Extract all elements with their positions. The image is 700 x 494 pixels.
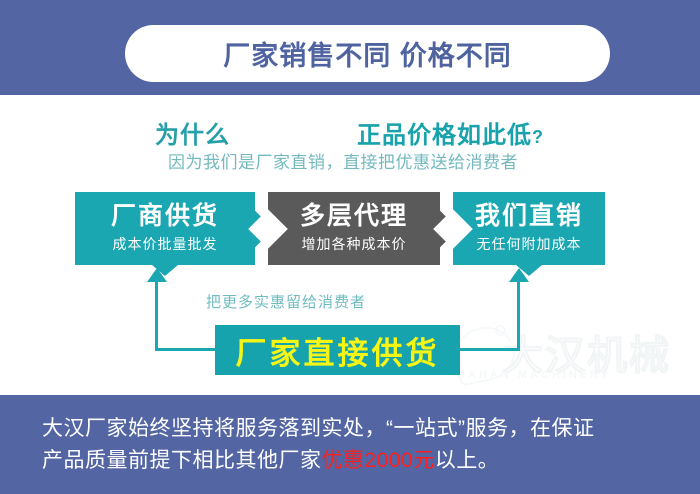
flow-step-3-subtitle: 无任何附加成本	[477, 234, 582, 254]
right-arrow-horizontal	[458, 348, 520, 351]
left-arrow-head-icon	[147, 268, 167, 282]
why-question-text: 正品价格如此低	[357, 122, 532, 149]
left-arrow-vertical	[155, 281, 158, 351]
why-row: 为什么 正品价格如此低?	[0, 115, 700, 149]
footer-line2-pre: 产品质量前提下相比其他厂家	[42, 449, 322, 472]
watermark-en-text: DAHAN MACHINERY	[457, 369, 611, 381]
watermark-cn-text: 大汉机械	[503, 323, 671, 381]
footer-text: 大汉厂家始终坚持将服务落到实处，“一站式”服务，在保证 产品质量前提下相比其他厂…	[42, 413, 666, 476]
why-question-mark: ?	[532, 127, 544, 147]
flow-step-2-subtitle: 增加各种成本价	[302, 234, 407, 254]
why-label: 为什么	[155, 115, 230, 150]
footer-discount-highlight: 优惠2000元	[322, 449, 435, 472]
page-title: 厂家销售不同 价格不同	[223, 34, 512, 73]
why-question-label: 正品价格如此低?	[357, 115, 544, 150]
header-title-pill: 厂家销售不同 价格不同	[125, 25, 610, 82]
flow-step-3-title: 我们直销	[475, 203, 583, 229]
left-arrow-horizontal	[155, 348, 217, 351]
direct-supply-box: 厂家直接供货	[215, 325, 460, 375]
footer-bar: 大汉厂家始终坚持将服务落到实处，“一站式”服务，在保证 产品质量前提下相比其他厂…	[0, 395, 700, 494]
right-arrow-head-icon	[509, 268, 529, 282]
direct-supply-label: 厂家直接供货	[236, 328, 440, 373]
middle-note: 把更多实惠留给消费者	[206, 291, 366, 312]
content-canvas: 大汉机械 DAHAN MACHINERY 为什么 正品价格如此低? 因为我们是厂…	[0, 95, 700, 395]
watermark: 大汉机械 DAHAN MACHINERY	[455, 323, 700, 393]
flow-step-2-title: 多层代理	[300, 203, 408, 229]
footer-line2-post: 以上。	[435, 449, 500, 472]
why-subtitle: 因为我们是厂家直销，直接把优惠送给消费者	[168, 148, 518, 173]
watermark-dot-icon	[495, 325, 506, 336]
flow-step-3: 我们直销 无任何附加成本	[453, 192, 605, 265]
flow-step-1-subtitle: 成本价批量批发	[113, 234, 218, 254]
watermark-logo-icon	[450, 321, 520, 386]
footer-line1: 大汉厂家始终坚持将服务落到实处，“一站式”服务，在保证	[42, 417, 594, 440]
right-arrow-vertical	[517, 281, 520, 351]
flow-step-2: 多层代理 增加各种成本价	[268, 192, 440, 265]
flow-step-1-title: 厂商供货	[111, 203, 219, 229]
promo-banner: 厂家销售不同 价格不同 大汉机械 DAHAN MACHINERY 为什么 正品价…	[0, 0, 700, 494]
flow-step-1: 厂商供货 成本价批量批发	[75, 192, 255, 265]
header-bar: 厂家销售不同 价格不同	[0, 0, 700, 95]
